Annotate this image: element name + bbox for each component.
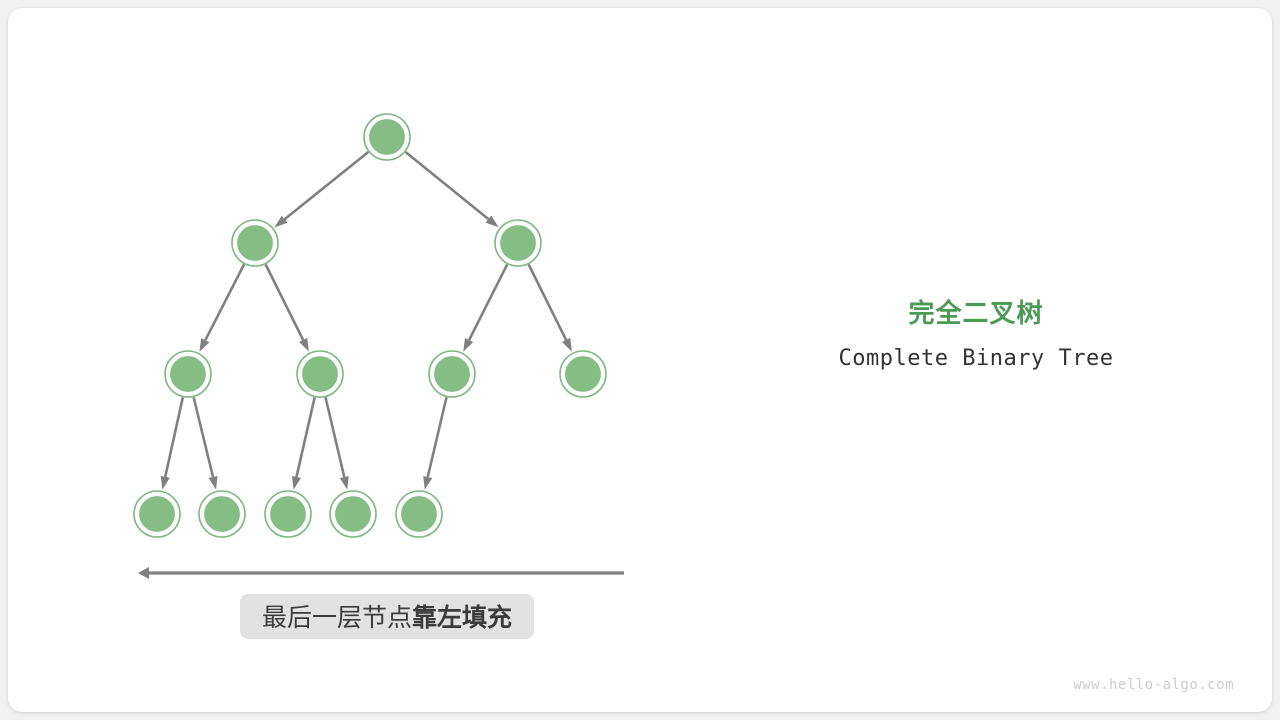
caption-normal-part: 最后一层节点 bbox=[262, 604, 412, 632]
tree-node-core bbox=[301, 355, 339, 393]
caption-group: 最后一层节点靠左填充 bbox=[240, 594, 534, 639]
caption-bold-part: 靠左填充 bbox=[412, 603, 512, 632]
tree-node-core bbox=[138, 495, 176, 533]
fill-direction-arrowhead bbox=[138, 567, 149, 579]
screenshot-stage: 最后一层节点靠左填充 完全二叉树 Complete Binary Tree ww… bbox=[0, 0, 1280, 720]
legend-subtitle: Complete Binary Tree bbox=[806, 346, 1146, 371]
tree-edge-arrowhead bbox=[562, 338, 572, 352]
tree-edge-arrowhead bbox=[340, 476, 349, 490]
tree-node[interactable] bbox=[364, 114, 410, 160]
tree-edge-arrowhead bbox=[423, 476, 432, 490]
diagram-card: 最后一层节点靠左填充 完全二叉树 Complete Binary Tree ww… bbox=[8, 8, 1272, 712]
tree-node[interactable] bbox=[330, 491, 376, 537]
tree-edge bbox=[469, 264, 507, 340]
tree-edge bbox=[428, 397, 447, 477]
tree-node-core bbox=[334, 495, 372, 533]
tree-node[interactable] bbox=[495, 220, 541, 266]
tree-edge bbox=[205, 264, 244, 340]
tree-node-core bbox=[499, 224, 537, 262]
tree-node[interactable] bbox=[560, 351, 606, 397]
tree-node[interactable] bbox=[265, 491, 311, 537]
tree-edge bbox=[326, 397, 345, 477]
fill-direction-arrow bbox=[138, 567, 624, 579]
tree-node-core bbox=[368, 118, 406, 156]
tree-node[interactable] bbox=[429, 351, 475, 397]
tree-edge-arrowhead bbox=[209, 476, 218, 490]
tree-node[interactable] bbox=[232, 220, 278, 266]
tree-node-core bbox=[269, 495, 307, 533]
tree-node[interactable] bbox=[165, 351, 211, 397]
caption-label: 最后一层节点靠左填充 bbox=[262, 603, 512, 632]
legend-title: 完全二叉树 bbox=[806, 296, 1146, 330]
tree-node-core bbox=[203, 495, 241, 533]
tree-edge-arrowhead bbox=[199, 338, 209, 352]
tree-edge bbox=[165, 397, 183, 476]
tree-node-core bbox=[433, 355, 471, 393]
tree-edge bbox=[296, 397, 314, 477]
tree-edge bbox=[529, 265, 566, 340]
tree-nodes-layer bbox=[134, 114, 606, 537]
tree-node[interactable] bbox=[396, 491, 442, 537]
tree-node-core bbox=[236, 224, 274, 262]
tree-edge-arrowhead bbox=[292, 476, 301, 490]
tree-edges-layer bbox=[161, 152, 572, 490]
tree-node-core bbox=[169, 355, 207, 393]
legend-block: 完全二叉树 Complete Binary Tree bbox=[806, 296, 1146, 371]
tree-node-core bbox=[564, 355, 602, 393]
tree-edge bbox=[266, 265, 303, 340]
tree-edge-arrowhead bbox=[299, 338, 309, 352]
watermark-text: www.hello-algo.com bbox=[1073, 677, 1234, 693]
tree-edge bbox=[285, 152, 369, 219]
tree-edge-arrowhead bbox=[161, 476, 170, 490]
tree-node-core bbox=[400, 495, 438, 533]
tree-node[interactable] bbox=[297, 351, 343, 397]
tree-edge bbox=[406, 152, 489, 219]
tree-node[interactable] bbox=[199, 491, 245, 537]
tree-node[interactable] bbox=[134, 491, 180, 537]
tree-edge-arrowhead bbox=[463, 338, 473, 352]
tree-edge bbox=[194, 397, 213, 477]
